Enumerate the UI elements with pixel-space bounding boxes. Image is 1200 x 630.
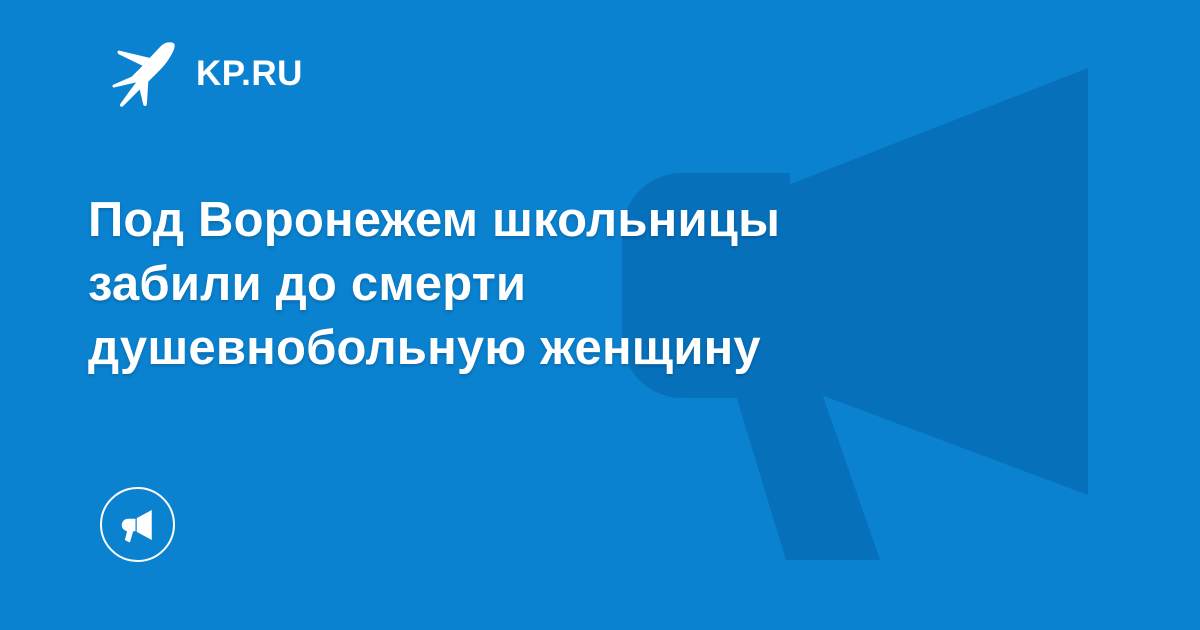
brand-name: KP.RU [196,56,303,91]
site-logo[interactable]: KP.RU [108,38,303,108]
social-share-card: KP.RU Под Воронежем школьницы забили до … [0,0,1200,630]
headline-line-1: Под Воронежем школьницы [88,188,988,252]
swallow-bird-icon [108,37,180,109]
megaphone-icon [118,505,158,545]
headline: Под Воронежем школьницы забили до смерти… [88,188,988,380]
megaphone-badge[interactable] [100,487,175,562]
headline-line-3: душевнобольную женщину [88,316,988,380]
headline-line-2: забили до смерти [88,252,988,316]
